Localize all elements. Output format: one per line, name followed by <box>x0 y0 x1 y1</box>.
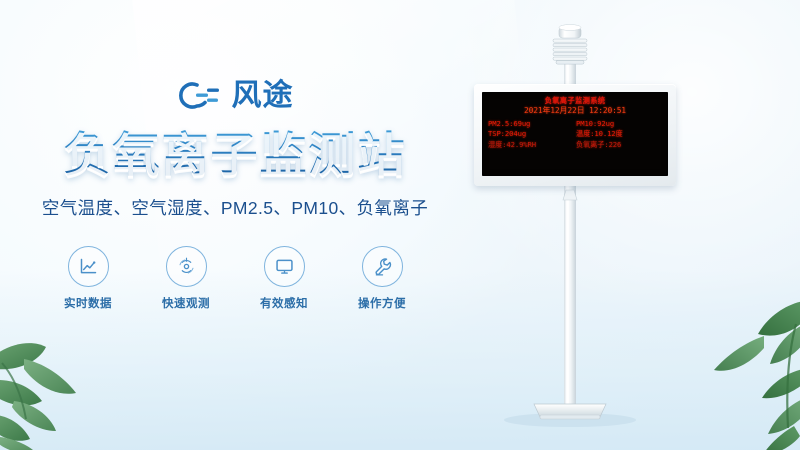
feature-icon-wrap <box>362 246 403 287</box>
feature-label: 有效感知 <box>248 295 320 311</box>
led-reading-tsp: TSP:204ug <box>488 129 574 138</box>
led-reading-pm10: PM10:92ug <box>576 119 662 128</box>
brand-name: 风途 <box>232 81 294 111</box>
page-subtitle: 空气温度、空气湿度、PM2.5、PM10、负氧离子 <box>0 195 470 220</box>
feature-item-realtime-data[interactable]: 实时数据 <box>52 246 124 311</box>
fengtu-logo-icon <box>177 79 221 113</box>
led-display-panel: 负氧离子监测系统 2021年12月22日 12:20:51 PM2.5:69ug… <box>474 84 676 186</box>
feature-label: 操作方便 <box>346 295 418 311</box>
led-title: 负氧离子监测系统 <box>488 96 662 105</box>
radar-sensor-icon <box>176 256 197 277</box>
feature-item-easy-operation[interactable]: 操作方便 <box>346 246 418 311</box>
marketing-panel: 风途 负氧离子监测站 空气温度、空气湿度、PM2.5、PM10、负氧离子 实时数… <box>0 74 470 311</box>
led-reading-humidity: 湿度:42.9%RH <box>488 140 574 149</box>
led-reading-temperature: 温度:10.12度 <box>576 129 662 138</box>
led-reading-pm25: PM2.5:69ug <box>488 119 574 128</box>
feature-item-fast-observation[interactable]: 快速观测 <box>150 246 222 311</box>
led-datetime: 2021年12月22日 12:20:51 <box>488 106 662 117</box>
led-screen-surface: 负氧离子监测系统 2021年12月22日 12:20:51 PM2.5:69ug… <box>482 92 668 176</box>
page-title: 负氧离子监测站 <box>0 130 470 179</box>
led-readings-grid: PM2.5:69ug PM10:92ug TSP:204ug 温度:10.12度… <box>488 119 662 149</box>
wrench-icon <box>372 256 393 277</box>
feature-list: 实时数据 快速观测 <box>0 246 470 311</box>
feature-icon-wrap <box>166 246 207 287</box>
feature-label: 实时数据 <box>52 295 124 311</box>
feature-icon-wrap <box>264 246 305 287</box>
monitor-icon <box>274 256 295 277</box>
radiation-shield-sensor-icon <box>553 25 587 65</box>
brand-row: 风途 <box>0 74 470 118</box>
feature-icon-wrap <box>68 246 109 287</box>
feature-label: 快速观测 <box>150 295 222 311</box>
pole-base-plate-icon <box>534 404 606 419</box>
led-reading-negative-ion: 负氧离子:226 <box>576 140 662 149</box>
feature-item-effective-sensing[interactable]: 有效感知 <box>248 246 320 311</box>
line-chart-icon <box>78 256 99 277</box>
